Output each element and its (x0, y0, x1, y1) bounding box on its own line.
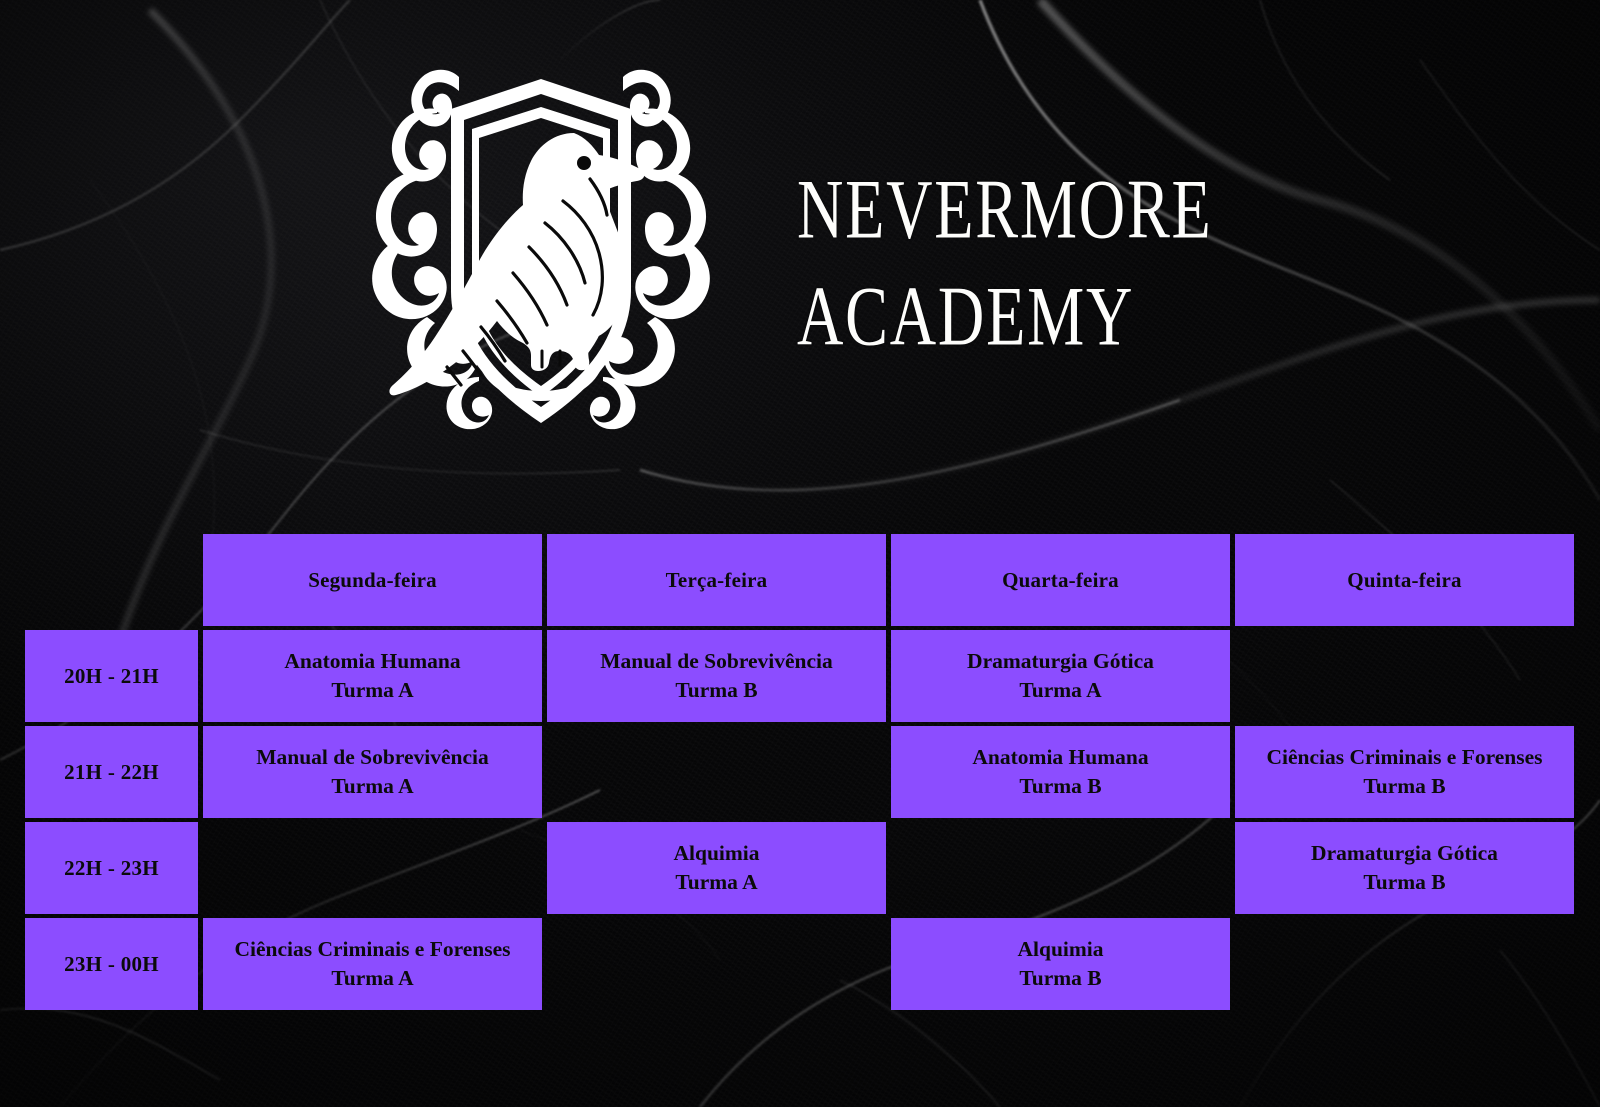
time-slot-label: 22H - 23H (25, 822, 198, 914)
subject-group: Turma B (901, 964, 1220, 993)
schedule-row: 23H - 00H Ciências Criminais e Forenses … (25, 918, 1574, 1010)
subject-group: Turma A (213, 676, 532, 705)
day-header-segunda: Segunda-feira (203, 534, 542, 626)
subject-name: Dramaturgia Gótica (901, 647, 1220, 676)
schedule-cell[interactable]: Dramaturgia Gótica Turma B (1235, 822, 1574, 914)
day-header-quarta: Quarta-feira (891, 534, 1230, 626)
subject-name: Alquimia (557, 839, 876, 868)
subject-name: Dramaturgia Gótica (1245, 839, 1564, 868)
schedule-cell[interactable]: Alquimia Turma B (891, 918, 1230, 1010)
class-schedule: Segunda-feira Terça-feira Quarta-feira Q… (20, 530, 1578, 1014)
schedule-cell-empty (547, 918, 886, 1010)
subject-name: Manual de Sobrevivência (557, 647, 876, 676)
schedule-cell[interactable]: Ciências Criminais e Forenses Turma B (1235, 726, 1574, 818)
subject-group: Turma B (1245, 868, 1564, 897)
time-slot-label: 23H - 00H (25, 918, 198, 1010)
brand-title-line-2: Academy (797, 247, 1134, 364)
schedule-cell[interactable]: Anatomia Humana Turma A (203, 630, 542, 722)
schedule-row: 21H - 22H Manual de Sobrevivência Turma … (25, 726, 1574, 818)
schedule-cell-empty (1235, 630, 1574, 722)
subject-name: Ciências Criminais e Forenses (213, 935, 532, 964)
subject-name: Anatomia Humana (213, 647, 532, 676)
subject-name: Anatomia Humana (901, 743, 1220, 772)
subject-group: Turma B (901, 772, 1220, 801)
day-header-terca: Terça-feira (547, 534, 886, 626)
day-header-quinta: Quinta-feira (1235, 534, 1574, 626)
schedule-table: Segunda-feira Terça-feira Quarta-feira Q… (20, 530, 1579, 1014)
schedule-cell-empty (891, 822, 1230, 914)
subject-group: Turma A (557, 868, 876, 897)
schedule-header-row: Segunda-feira Terça-feira Quarta-feira Q… (25, 534, 1574, 626)
subject-name: Alquimia (901, 935, 1220, 964)
brand-title-block: Nevermore Academy (797, 148, 1269, 356)
schedule-cell[interactable]: Anatomia Humana Turma B (891, 726, 1230, 818)
schedule-cell[interactable]: Manual de Sobrevivência Turma B (547, 630, 886, 722)
schedule-row: 20H - 21H Anatomia Humana Turma A Manual… (25, 630, 1574, 722)
schedule-cell[interactable]: Alquimia Turma A (547, 822, 886, 914)
raven-shield-crest-icon (331, 45, 751, 456)
schedule-corner-cell (25, 534, 198, 626)
subject-group: Turma A (213, 772, 532, 801)
schedule-row: 22H - 23H Alquimia Turma A Dramaturgia G… (25, 822, 1574, 914)
brand-header: Nevermore Academy (0, 0, 1600, 500)
schedule-cell-empty (203, 822, 542, 914)
subject-name: Ciências Criminais e Forenses (1245, 743, 1564, 772)
schedule-cell-empty (1235, 918, 1574, 1010)
schedule-cell[interactable]: Ciências Criminais e Forenses Turma A (203, 918, 542, 1010)
time-slot-label: 20H - 21H (25, 630, 198, 722)
time-slot-label: 21H - 22H (25, 726, 198, 818)
subject-group: Turma A (213, 964, 532, 993)
subject-group: Turma B (557, 676, 876, 705)
schedule-cell[interactable]: Manual de Sobrevivência Turma A (203, 726, 542, 818)
schedule-cell[interactable]: Dramaturgia Gótica Turma A (891, 630, 1230, 722)
subject-group: Turma A (901, 676, 1220, 705)
subject-name: Manual de Sobrevivência (213, 743, 532, 772)
subject-group: Turma B (1245, 772, 1564, 801)
schedule-cell-empty (547, 726, 886, 818)
